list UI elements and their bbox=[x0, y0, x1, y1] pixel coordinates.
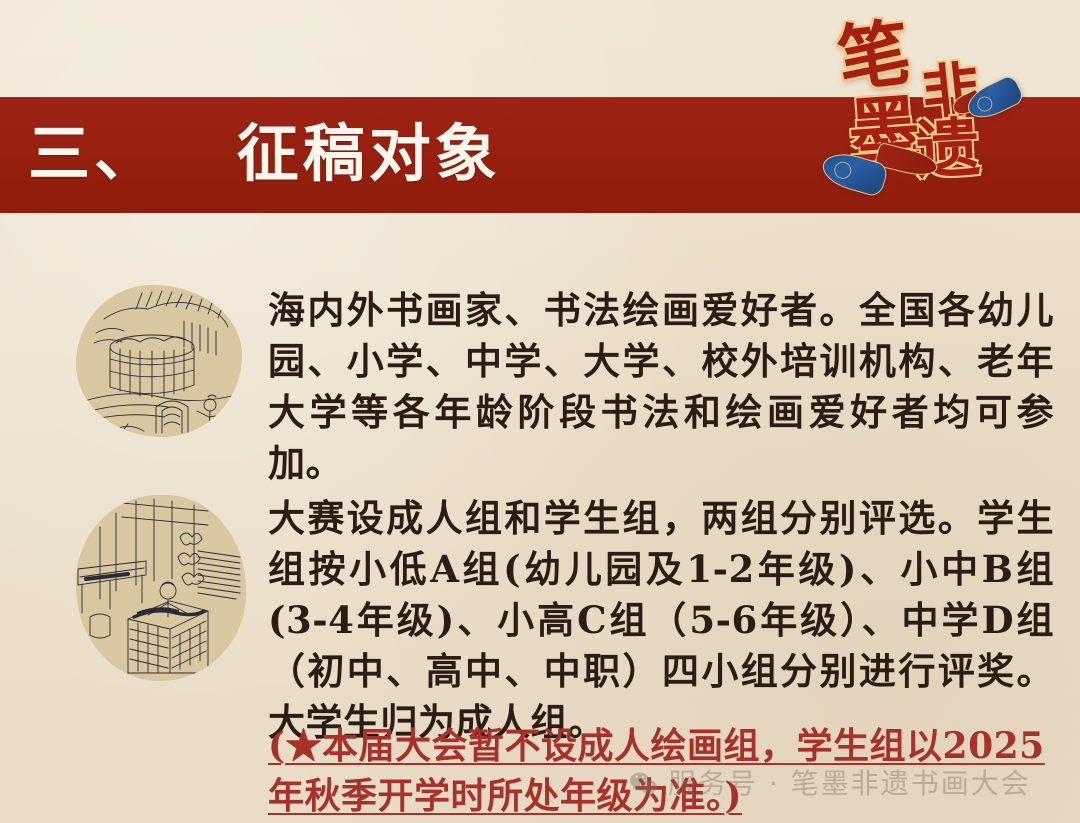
section-title-banner: 三、 征稿对象 bbox=[0, 97, 1080, 213]
content-area: 海内外书画家、书法绘画爱好者。全国各幼儿园、小学、中学、大学、校外培训机构、老年… bbox=[0, 213, 1080, 823]
important-note: (★本届大会暂不设成人绘画组，学生组以2025年秋季开学时所处年级为准。) bbox=[268, 721, 1054, 821]
paragraph-eligible-participants: 海内外书画家、书法绘画爱好者。全国各幼儿园、小学、中学、大学、校外培训机构、老年… bbox=[268, 285, 1054, 489]
slide-canvas: 三、 征稿对象 笔 墨 非 遗 bbox=[0, 0, 1080, 823]
woodcut-workshop-scene-illustration bbox=[76, 495, 246, 681]
woodcut-kiln-scene-illustration bbox=[76, 285, 242, 437]
page-title: 三、 征稿对象 bbox=[28, 123, 501, 185]
paragraph-group-divisions: 大赛设成人组和学生组，两组分别评选。学生组按小低A组(幼儿园及1-2年级)、小中… bbox=[268, 493, 1054, 748]
brand-char-bi: 笔 bbox=[834, 16, 914, 96]
